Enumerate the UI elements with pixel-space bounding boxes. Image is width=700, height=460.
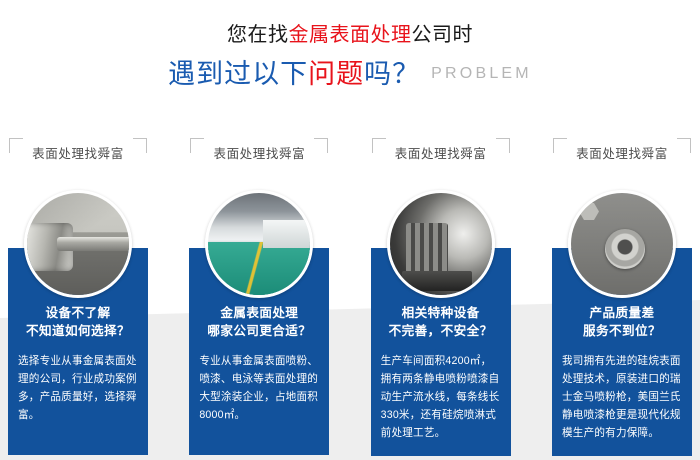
lathe-machining-photo [24,190,132,298]
card-body-text: 我司拥有先进的硅烷表面处理技术，原装进口的瑞士金马喷粉枪，美国兰氏静电喷漆枪更是… [562,352,682,442]
page-subtitle-highlight: 问题 [308,59,364,89]
page-title-prefix: 您在找 [227,24,289,46]
problem-card[interactable]: 表面处理找舜富 金属表面处理 哪家公司更合适？ 专业从事金属表面喷粉、喷漆、电泳… [189,138,329,458]
fasteners-photo [568,190,676,298]
card-photo-wrapper [205,190,313,298]
card-body-text: 专业从事金属表面喷粉、喷漆、电泳等表面处理的大型涂装企业，占地面积8000㎡。 [199,352,319,424]
card-heading-line2: 不完善，不安全？ [381,322,501,340]
card-tag-label: 表面处理找舜富 [553,143,691,162]
card-bracket-tag: 表面处理找舜富 [372,138,510,168]
card-tag-label: 表面处理找舜富 [9,143,147,162]
card-heading-line2: 服务不到位？ [562,322,682,340]
card-heading-line2: 不知道如何选择？ [18,322,138,340]
card-heading-line2: 哪家公司更合适？ [199,322,319,340]
card-heading: 产品质量差 服务不到位？ [562,304,682,340]
page-title-suffix: 公司时 [412,24,474,46]
card-body-text: 生产车间面积4200㎡，拥有两条静电喷粉喷漆自动生产流水线，每条线长330米，还… [381,352,501,442]
card-bracket-tag: 表面处理找舜富 [9,138,147,168]
photo-fill [390,193,492,295]
card-photo-wrapper [387,190,495,298]
card-heading: 金属表面处理 哪家公司更合适？ [199,304,319,340]
photo-fill [208,193,310,295]
card-photo-wrapper [24,190,132,298]
photo-fill [27,193,129,295]
page-subtitle-english: PROBLEM [431,65,532,82]
problem-cards-row: 表面处理找舜富 设备不了解 不知道如何选择？ 选择专业从事金属表面处理的公司，行… [8,138,692,458]
card-tag-label: 表面处理找舜富 [372,143,510,162]
problem-card[interactable]: 表面处理找舜富 产品质量差 服务不到位？ 我司拥有先进的硅烷表面处理技术，原装进… [552,138,692,458]
card-tag-label: 表面处理找舜富 [190,143,328,162]
card-bracket-tag: 表面处理找舜富 [553,138,691,168]
card-heading: 设备不了解 不知道如何选择？ [18,304,138,340]
card-heading-line1: 相关特种设备 [381,304,501,322]
card-heading-line1: 产品质量差 [562,304,682,322]
page-subtitle-part2: 吗？ [364,59,420,89]
card-photo-wrapper [568,190,676,298]
machined-parts-photo [387,190,495,298]
card-heading-line1: 设备不了解 [18,304,138,322]
problem-card[interactable]: 表面处理找舜富 设备不了解 不知道如何选择？ 选择专业从事金属表面处理的公司，行… [8,138,148,458]
card-heading: 相关特种设备 不完善，不安全？ [381,304,501,340]
card-heading-line1: 金属表面处理 [199,304,319,322]
photo-fill [571,193,673,295]
card-bracket-tag: 表面处理找舜富 [190,138,328,168]
factory-corridor-photo [205,190,313,298]
page-subtitle: 遇到过以下问题吗？PROBLEM [0,58,700,90]
page-subtitle-part1: 遇到过以下 [168,59,308,89]
page-title: 您在找金属表面处理公司时 [0,22,700,48]
page-title-highlight: 金属表面处理 [289,24,412,46]
page-heading-block: 您在找金属表面处理公司时 遇到过以下问题吗？PROBLEM [0,0,700,90]
problem-card[interactable]: 表面处理找舜富 相关特种设备 不完善，不安全？ 生产车间面积4200㎡，拥有两条… [371,138,511,458]
card-body-text: 选择专业从事金属表面处理的公司，行业成功案例多，产品质量好，选择舜富。 [18,352,138,424]
